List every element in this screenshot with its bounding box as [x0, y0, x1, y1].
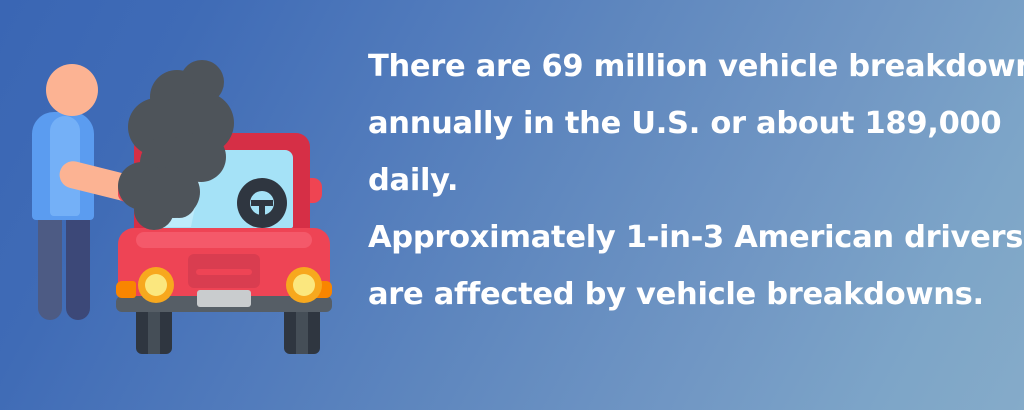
car-tire-left-highlight-shape [148, 306, 160, 354]
statistic-line: annually in the U.S. or about 189,000 [368, 95, 1016, 152]
car-tire-right-highlight-shape [296, 306, 308, 354]
person-head-shape [46, 64, 98, 116]
person-leg-front-shape [66, 205, 90, 320]
statistic-line: daily. [368, 152, 1016, 209]
statistic-line: are affected by vehicle breakdowns. [368, 266, 1016, 323]
steering-wheel-spoke-vertical-shape [259, 202, 265, 226]
smoke-puff-shape [162, 184, 196, 218]
statistics-text-block: There are 69 million vehicle breakdowns … [368, 38, 1016, 323]
statistic-line: There are 69 million vehicle breakdowns [368, 38, 1016, 95]
stranded-driver-illustration [22, 50, 342, 350]
person-leg-back-shape [38, 205, 62, 320]
car-headlight-right-shape [286, 267, 322, 303]
car-license-plate-shape [197, 290, 251, 307]
statistic-line: Approximately 1-in-3 American drivers [368, 209, 1016, 266]
car-hood-highlight-shape [136, 232, 312, 248]
car-grille-slot-shape [196, 269, 252, 275]
infographic-banner: There are 69 million vehicle breakdowns … [0, 0, 1024, 410]
car-headlight-left-shape [138, 267, 174, 303]
car-blinker-left-shape [116, 281, 136, 298]
